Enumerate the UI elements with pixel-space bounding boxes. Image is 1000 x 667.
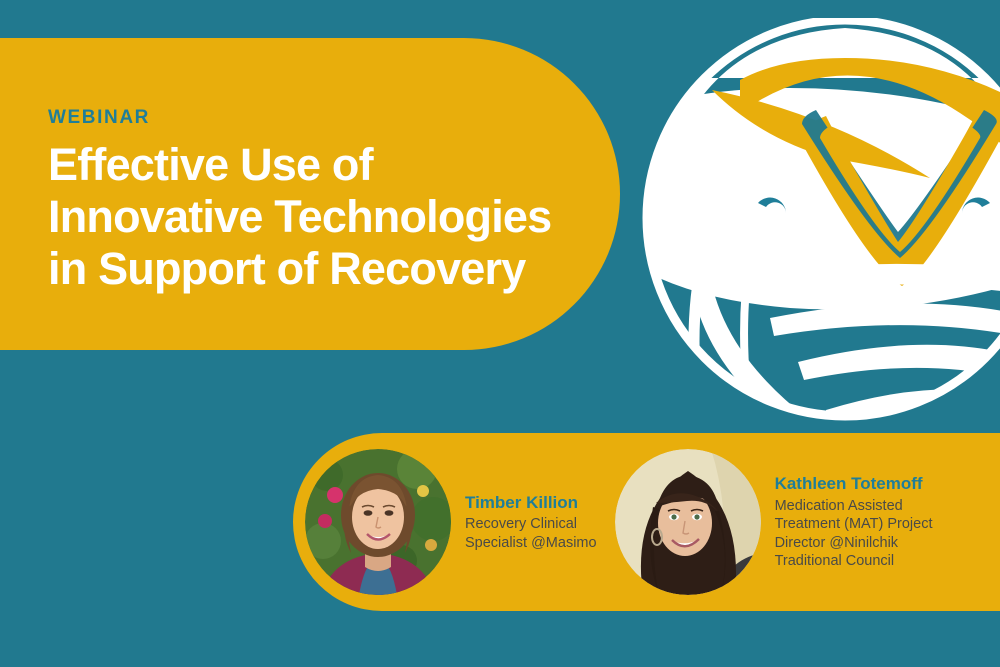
speaker-kathleen-totemoff: Kathleen Totemoff Medication Assisted Tr…: [615, 433, 933, 611]
speaker-role-line: Treatment (MAT) Project: [775, 515, 933, 534]
speaker-name: Timber Killion: [465, 492, 597, 513]
speaker-role-line: Specialist @Masimo: [465, 534, 597, 553]
speakers-panel: Timber Killion Recovery Clinical Special…: [293, 433, 1000, 611]
headline-line-3: in Support of Recovery: [48, 243, 578, 295]
owl-logo: [630, 18, 1000, 438]
speaker-role-line: Director @Ninilchik: [775, 534, 933, 553]
eyebrow-label: WEBINAR: [48, 108, 578, 127]
speaker-role: Recovery Clinical Specialist @Masimo: [465, 515, 597, 552]
webinar-promo-graphic: WEBINAR Effective Use of Innovative Tech…: [0, 0, 1000, 667]
speaker-role-line: Medication Assisted: [775, 497, 933, 516]
speaker-role: Medication Assisted Treatment (MAT) Proj…: [775, 497, 933, 571]
page-title: Effective Use of Innovative Technologies…: [48, 139, 578, 294]
speaker-role-line: Recovery Clinical: [465, 515, 597, 534]
avatar-timber-killion: [305, 449, 451, 595]
headline-line-1: Effective Use of: [48, 139, 578, 191]
avatar-kathleen-totemoff: [615, 449, 761, 595]
headline-line-2: Innovative Technologies: [48, 191, 578, 243]
speaker-role-line: Traditional Council: [775, 552, 933, 571]
title-panel: WEBINAR Effective Use of Innovative Tech…: [0, 38, 620, 350]
speaker-name: Kathleen Totemoff: [775, 473, 933, 494]
speaker-timber-killion: Timber Killion Recovery Clinical Special…: [305, 433, 597, 611]
